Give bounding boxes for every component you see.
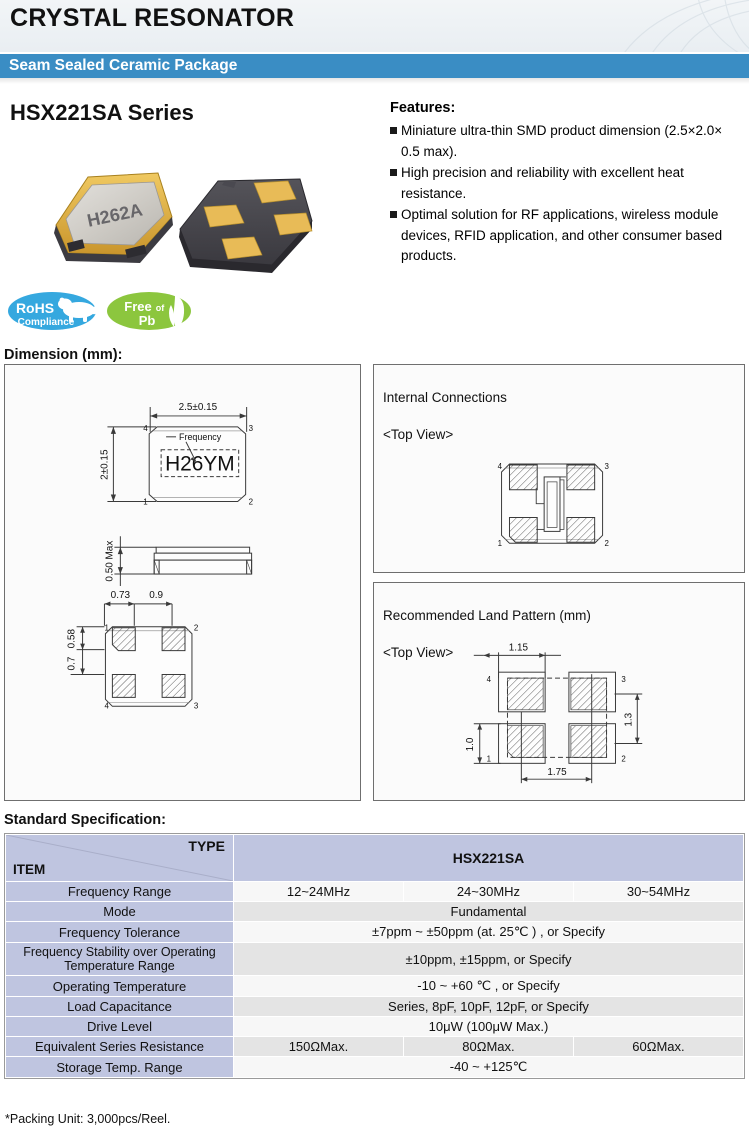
spec-row-label: Frequency Stability over Operating Tempe… bbox=[6, 943, 234, 976]
pin-label-1: 1 bbox=[487, 754, 492, 763]
svg-text:Compliance: Compliance bbox=[18, 317, 75, 328]
spec-row-value: ±7ppm ~ ±50ppm (at. 25℃ ) , or Specify bbox=[234, 922, 744, 943]
spec-header-row: TYPE ITEM HSX221SA bbox=[6, 835, 744, 882]
lead-free-badge: Free of Pb bbox=[107, 292, 191, 330]
pin-label-1: 1 bbox=[498, 539, 503, 548]
spec-row-value: -10 ~ +60 ℃ , or Specify bbox=[234, 976, 744, 997]
land-pattern-svg: 1.15 1.0 1.3 bbox=[374, 583, 744, 800]
table-row: ModeFundamental bbox=[6, 902, 744, 922]
spec-row-value: ±10ppm, ±15ppm, or Specify bbox=[234, 943, 744, 976]
photo-part-top: H262A bbox=[54, 173, 173, 263]
photo-part-bottom bbox=[179, 179, 312, 273]
product-photo-svg: H262A bbox=[40, 155, 340, 280]
feature-text: High precision and reliability with exce… bbox=[401, 163, 740, 204]
spec-row-value: 30~54MHz bbox=[573, 882, 743, 902]
dimension-section-title: Dimension (mm): bbox=[4, 347, 122, 363]
page-banner: CRYSTAL RESONATOR bbox=[0, 0, 749, 52]
spec-section-title: Standard Specification: bbox=[4, 812, 166, 828]
pin-label-2: 2 bbox=[249, 497, 254, 506]
spec-row-value: Fundamental bbox=[234, 902, 744, 922]
packing-note: *Packing Unit: 3,000pcs/Reel. bbox=[5, 1112, 170, 1126]
dimension-drawing-panel: 2.5±0.15 2±0.15 H26YM Frequency bbox=[4, 364, 361, 801]
pin-label-3: 3 bbox=[249, 424, 254, 433]
spec-row-label: Mode bbox=[6, 902, 234, 922]
spec-row-value: 10μW (100μW Max.) bbox=[234, 1017, 744, 1037]
land-pattern-panel: Recommended Land Pattern (mm) <Top View>… bbox=[373, 582, 745, 801]
table-row: Frequency Range12~24MHz24~30MHz30~54MHz bbox=[6, 882, 744, 902]
eco-badges: RoHS Compliance Free of Pb bbox=[5, 287, 205, 335]
table-row: Frequency Stability over Operating Tempe… bbox=[6, 943, 744, 976]
spec-row-label: Equivalent Series Resistance bbox=[6, 1037, 234, 1057]
pin-label-3: 3 bbox=[621, 675, 626, 684]
feature-item: Miniature ultra-thin SMD product dimensi… bbox=[390, 121, 740, 162]
spec-row-value: 60ΩMax. bbox=[573, 1037, 743, 1057]
pin-label-4: 4 bbox=[487, 675, 492, 684]
frequency-callout-label: Frequency bbox=[179, 432, 222, 442]
item-header-label: ITEM bbox=[13, 862, 45, 877]
features-heading: Features: bbox=[390, 100, 740, 116]
land-dim-top: 1.15 bbox=[509, 642, 529, 653]
bar-shadow bbox=[0, 78, 749, 84]
land-dim-left: 1.0 bbox=[465, 737, 476, 751]
bullet-square-icon bbox=[390, 127, 397, 134]
internal-connections-svg: 4 3 1 2 bbox=[374, 365, 744, 572]
svg-text:Free: Free bbox=[124, 299, 151, 314]
dim-width-label: 2.5±0.15 bbox=[179, 402, 218, 413]
dim-thickness-label: 0.50 Max bbox=[104, 541, 115, 582]
product-photo: H262A bbox=[40, 155, 340, 280]
series-title: HSX221SA Series bbox=[10, 100, 194, 126]
spec-row-label: Operating Temperature bbox=[6, 976, 234, 997]
feature-text: Miniature ultra-thin SMD product dimensi… bbox=[401, 121, 740, 162]
dim-pad-height-label: 0.58 bbox=[67, 629, 78, 649]
spec-row-label: Storage Temp. Range bbox=[6, 1057, 234, 1078]
spec-row-label: Frequency Tolerance bbox=[6, 922, 234, 943]
pin-label-3: 3 bbox=[605, 462, 610, 471]
banner-swirl-decoration bbox=[569, 0, 749, 52]
table-row: Drive Level10μW (100μW Max.) bbox=[6, 1017, 744, 1037]
subtitle-text: Seam Sealed Ceramic Package bbox=[9, 57, 237, 75]
page-title: CRYSTAL RESONATOR bbox=[10, 4, 294, 33]
table-row: Operating Temperature-10 ~ +60 ℃ , or Sp… bbox=[6, 976, 744, 997]
pin-label-2: 2 bbox=[621, 754, 625, 763]
rohs-badge: RoHS Compliance bbox=[8, 292, 98, 330]
spec-row-value: 24~30MHz bbox=[403, 882, 573, 902]
land-dim-right: 1.3 bbox=[623, 712, 634, 726]
table-row: Frequency Tolerance±7ppm ~ ±50ppm (at. 2… bbox=[6, 922, 744, 943]
dim-height-label: 2±0.15 bbox=[99, 449, 110, 480]
pin-label-1: 1 bbox=[104, 624, 109, 633]
spec-row-label: Frequency Range bbox=[6, 882, 234, 902]
spec-row-value: Series, 8pF, 10pF, 12pF, or Specify bbox=[234, 997, 744, 1017]
subtitle-bar: Seam Sealed Ceramic Package bbox=[0, 54, 749, 78]
side-view-drawing: 0.50 Max bbox=[104, 536, 251, 586]
table-row: Equivalent Series Resistance150ΩMax.80ΩM… bbox=[6, 1037, 744, 1057]
pin-label-2: 2 bbox=[605, 539, 609, 548]
bullet-square-icon bbox=[390, 211, 397, 218]
spec-row-value: 150ΩMax. bbox=[234, 1037, 404, 1057]
spec-row-label: Drive Level bbox=[6, 1017, 234, 1037]
bottom-view-drawing: 0.73 0.9 0.58 0.7 bbox=[67, 590, 199, 710]
type-header-label: TYPE bbox=[188, 838, 225, 854]
features-section: Features: Miniature ultra-thin SMD produ… bbox=[390, 100, 740, 268]
dim-pad-pitch-label: 0.7 bbox=[67, 656, 78, 670]
pin-label-3: 3 bbox=[194, 701, 199, 710]
table-row: Load CapacitanceSeries, 8pF, 10pF, 12pF,… bbox=[6, 997, 744, 1017]
svg-text:Pb: Pb bbox=[139, 313, 156, 328]
svg-text:of: of bbox=[156, 303, 165, 313]
spec-row-value: -40 ~ +125℃ bbox=[234, 1057, 744, 1078]
pin-label-1: 1 bbox=[143, 497, 148, 506]
pin-label-4: 4 bbox=[104, 701, 109, 710]
pin-label-4: 4 bbox=[143, 424, 148, 433]
dim-pad-gap-label: 0.9 bbox=[149, 590, 163, 601]
spec-table: TYPE ITEM HSX221SA Frequency Range12~24M… bbox=[5, 834, 744, 1078]
item-type-header-cell: TYPE ITEM bbox=[6, 835, 234, 882]
feature-item: High precision and reliability with exce… bbox=[390, 163, 740, 204]
bullet-square-icon bbox=[390, 169, 397, 176]
land-dim-bottom: 1.75 bbox=[547, 767, 567, 778]
spec-row-label: Load Capacitance bbox=[6, 997, 234, 1017]
dim-marking-text: H26YM bbox=[165, 453, 235, 476]
feature-text: Optimal solution for RF applications, wi… bbox=[401, 205, 740, 267]
dimension-drawing-svg: 2.5±0.15 2±0.15 H26YM Frequency bbox=[5, 365, 360, 800]
table-row: Storage Temp. Range-40 ~ +125℃ bbox=[6, 1057, 744, 1078]
svg-text:RoHS: RoHS bbox=[16, 300, 54, 316]
spec-row-value: 12~24MHz bbox=[234, 882, 404, 902]
pin-label-2: 2 bbox=[194, 624, 199, 633]
type-value-header: HSX221SA bbox=[234, 835, 744, 882]
dim-pad-width-label: 0.73 bbox=[111, 590, 131, 601]
spec-row-value: 80ΩMax. bbox=[403, 1037, 573, 1057]
pin-label-4: 4 bbox=[498, 462, 503, 471]
feature-item: Optimal solution for RF applications, wi… bbox=[390, 205, 740, 267]
internal-connections-panel: Internal Connections <Top View> 4 3 1 bbox=[373, 364, 745, 573]
top-view-drawing: 2.5±0.15 2±0.15 H26YM Frequency bbox=[99, 402, 253, 506]
spec-table-wrapper: TYPE ITEM HSX221SA Frequency Range12~24M… bbox=[4, 833, 745, 1079]
